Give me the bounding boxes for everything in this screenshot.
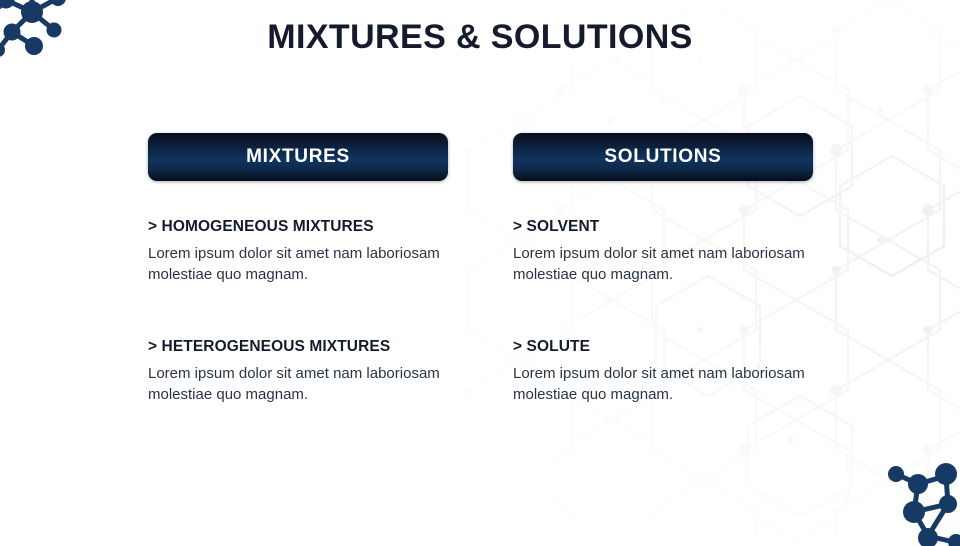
entry-body: Lorem ipsum dolor sit amet nam laboriosa…	[513, 363, 813, 405]
slide: MIXTURES & SOLUTIONS MIXTURES > HOMOGENE…	[0, 0, 960, 540]
entry-homogeneous-mixtures: > HOMOGENEOUS MIXTURES Lorem ipsum dolor…	[148, 218, 448, 285]
page-title: MIXTURES & SOLUTIONS	[0, 18, 960, 57]
molecule-icon	[884, 460, 960, 546]
category-pill-label: MIXTURES	[246, 146, 350, 168]
entry-solute: > SOLUTE Lorem ipsum dolor sit amet nam …	[513, 338, 813, 405]
entry-heading: > SOLVENT	[513, 218, 813, 236]
content-columns: MIXTURES > HOMOGENEOUS MIXTURES Lorem ip…	[148, 133, 813, 405]
entry-body: Lorem ipsum dolor sit amet nam laboriosa…	[148, 363, 448, 405]
entry-heading: > HOMOGENEOUS MIXTURES	[148, 218, 448, 236]
category-pill-label: SOLUTIONS	[604, 146, 721, 168]
category-pill-solutions[interactable]: SOLUTIONS	[513, 133, 813, 181]
entry-solvent: > SOLVENT Lorem ipsum dolor sit amet nam…	[513, 218, 813, 285]
entry-heading: > SOLUTE	[513, 338, 813, 356]
entry-body: Lorem ipsum dolor sit amet nam laboriosa…	[148, 243, 448, 285]
entry-body: Lorem ipsum dolor sit amet nam laboriosa…	[513, 243, 813, 285]
category-pill-mixtures[interactable]: MIXTURES	[148, 133, 448, 181]
entry-heterogeneous-mixtures: > HETEROGENEOUS MIXTURES Lorem ipsum dol…	[148, 338, 448, 405]
column-mixtures: MIXTURES > HOMOGENEOUS MIXTURES Lorem ip…	[148, 133, 448, 405]
entry-heading: > HETEROGENEOUS MIXTURES	[148, 338, 448, 356]
column-solutions: SOLUTIONS > SOLVENT Lorem ipsum dolor si…	[513, 133, 813, 405]
